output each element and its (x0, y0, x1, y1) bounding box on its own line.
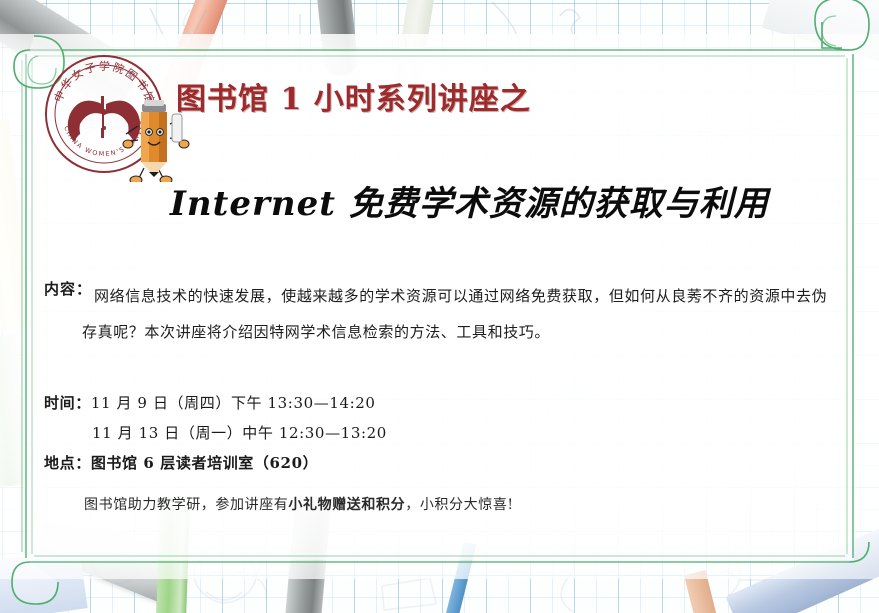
content-line-1: 网络信息技术的快速发展，使越来越多的学术资源可以通过网络免费获取，但如何从良莠不… (94, 278, 827, 314)
content-section: 内容： 网络信息技术的快速发展，使越来越多的学术资源可以通过网络免费获取，但如何… (44, 278, 844, 350)
place-value: 图书馆 6 层读者培训室（620） (91, 454, 318, 472)
content-line-2: 存真呢？本次讲座将介绍因特网学术信息检索的方法、工具和技巧。 (82, 314, 844, 350)
note-prefix: 图书馆助力教学研，参加讲座有 (84, 497, 288, 513)
schedule-section: 时间：11 月 9 日（周四）下午 13:30—14:20 11 月 13 日（… (44, 388, 844, 478)
series-title: 图书馆 1 小时系列讲座之 (176, 74, 531, 118)
time-value-1: 11 月 9 日（周四）下午 13:30—14:20 (91, 394, 376, 412)
content-label: 内容： (44, 278, 94, 299)
place-label: 地点： (44, 454, 91, 472)
time-label: 时间： (44, 394, 91, 412)
poster-main-title: Internet 免费学术资源的获取与利用 (170, 176, 769, 225)
incentive-note: 图书馆助力教学研，参加讲座有小礼物赠送和积分，小积分大惊喜! (84, 494, 844, 514)
poster-canvas: b₁x+b₂x+C=D g =c (0, 0, 879, 613)
note-highlight: 小礼物赠送和积分 (288, 497, 405, 513)
time-value-2: 11 月 13 日（周一）中午 12:30—13:20 (44, 418, 844, 448)
note-suffix: ，小积分大惊喜! (405, 497, 513, 513)
